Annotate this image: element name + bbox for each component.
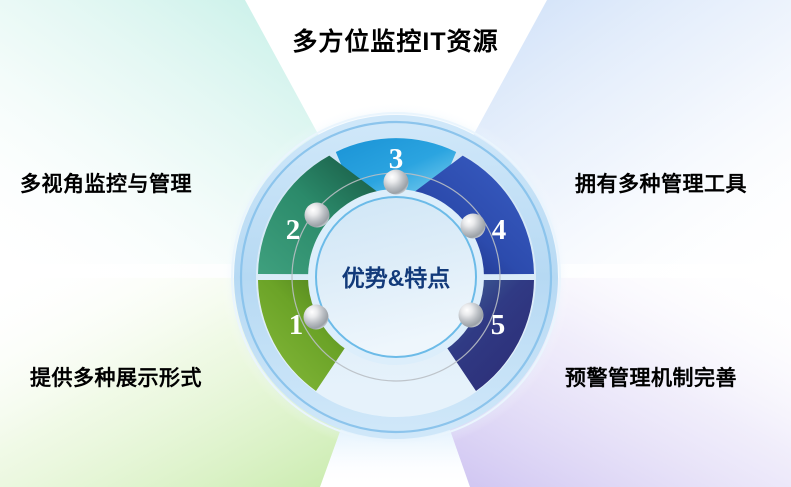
label-bottom-left: 提供多种展示形式 [30,362,202,392]
label-top-left: 多视角监控与管理 [20,168,192,198]
segment-number-5: 5 [491,309,506,341]
donut-diagram: 1 2 3 4 5 优势&特点 [0,0,791,487]
segment-number-4: 4 [492,214,507,246]
page-title: 多方位监控IT资源 [0,22,791,58]
segment-number-2: 2 [286,214,301,246]
segment-number-1: 1 [289,309,304,341]
segment-number-3: 3 [389,143,404,175]
marker-sphere-4[interactable] [461,214,486,239]
center-label: 优势&特点 [342,265,451,291]
marker-sphere-5[interactable] [459,303,484,328]
label-top-right: 拥有多种管理工具 [575,168,747,198]
infographic-canvas: 1 2 3 4 5 优势&特点 多方位监控IT资源 多视角监控与管理 拥有多种管… [0,0,791,487]
marker-sphere-1[interactable] [304,305,329,330]
label-bottom-right: 预警管理机制完善 [565,362,737,392]
marker-sphere-2[interactable] [305,203,330,228]
